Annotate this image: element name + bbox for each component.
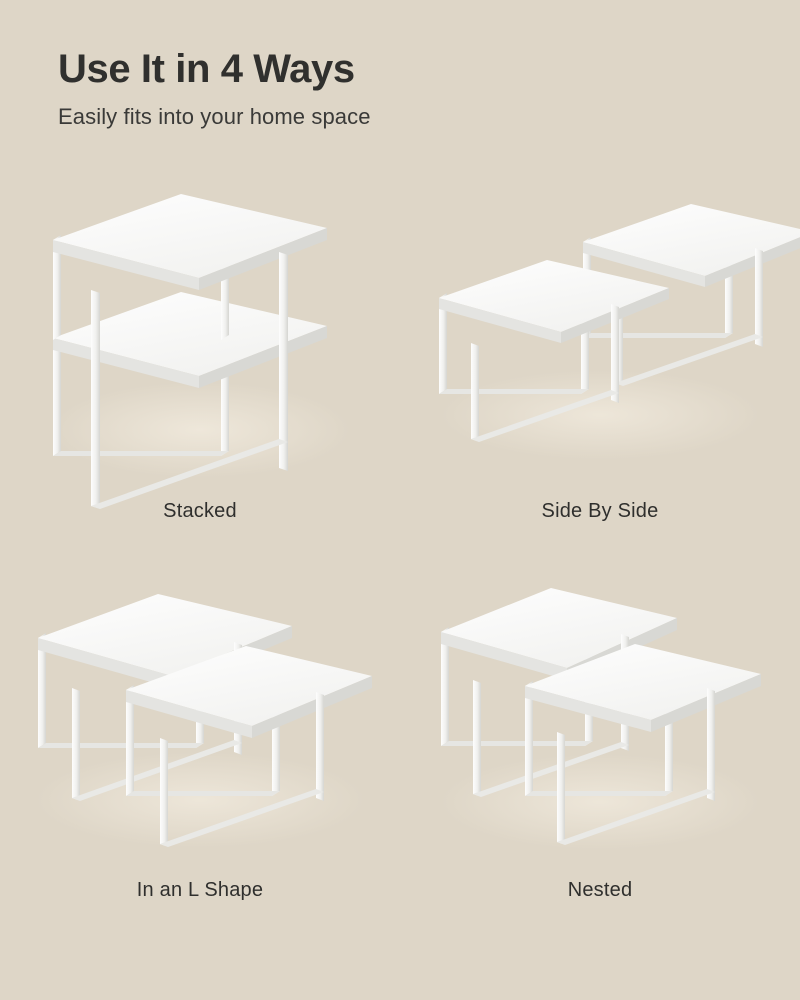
page-subtitle: Easily fits into your home space — [58, 102, 758, 132]
infographic-page: Use It in 4 Ways Easily fits into your h… — [0, 0, 800, 1000]
usage-label-side-by-side: Side By Side — [542, 498, 659, 524]
usage-label-l-shape: In an L Shape — [137, 877, 263, 903]
nested-shelves-svg — [425, 570, 775, 860]
usage-label-nested: Nested — [568, 877, 633, 903]
illustration-l-shape — [0, 555, 400, 875]
usage-label-stacked: Stacked — [163, 498, 237, 524]
floor-glow — [440, 370, 760, 460]
shelf-rear-board — [583, 204, 800, 287]
side-by-side-shelves-svg — [425, 180, 775, 480]
shelf-front-board — [439, 260, 669, 343]
usage-panel-l-shape: In an L Shape — [0, 555, 400, 940]
page-title: Use It in 4 Ways — [58, 44, 758, 94]
illustration-stacked — [0, 170, 400, 490]
usage-grid: Stacked — [0, 170, 800, 960]
usage-panel-side-by-side: Side By Side — [400, 170, 800, 555]
stacked-shelves-svg — [35, 180, 365, 480]
usage-panel-stacked: Stacked — [0, 170, 400, 555]
usage-panel-nested: Nested — [400, 555, 800, 940]
illustration-nested — [400, 555, 800, 875]
header: Use It in 4 Ways Easily fits into your h… — [58, 44, 758, 132]
l-shape-shelves-svg — [20, 570, 380, 860]
illustration-side-by-side — [400, 170, 800, 490]
